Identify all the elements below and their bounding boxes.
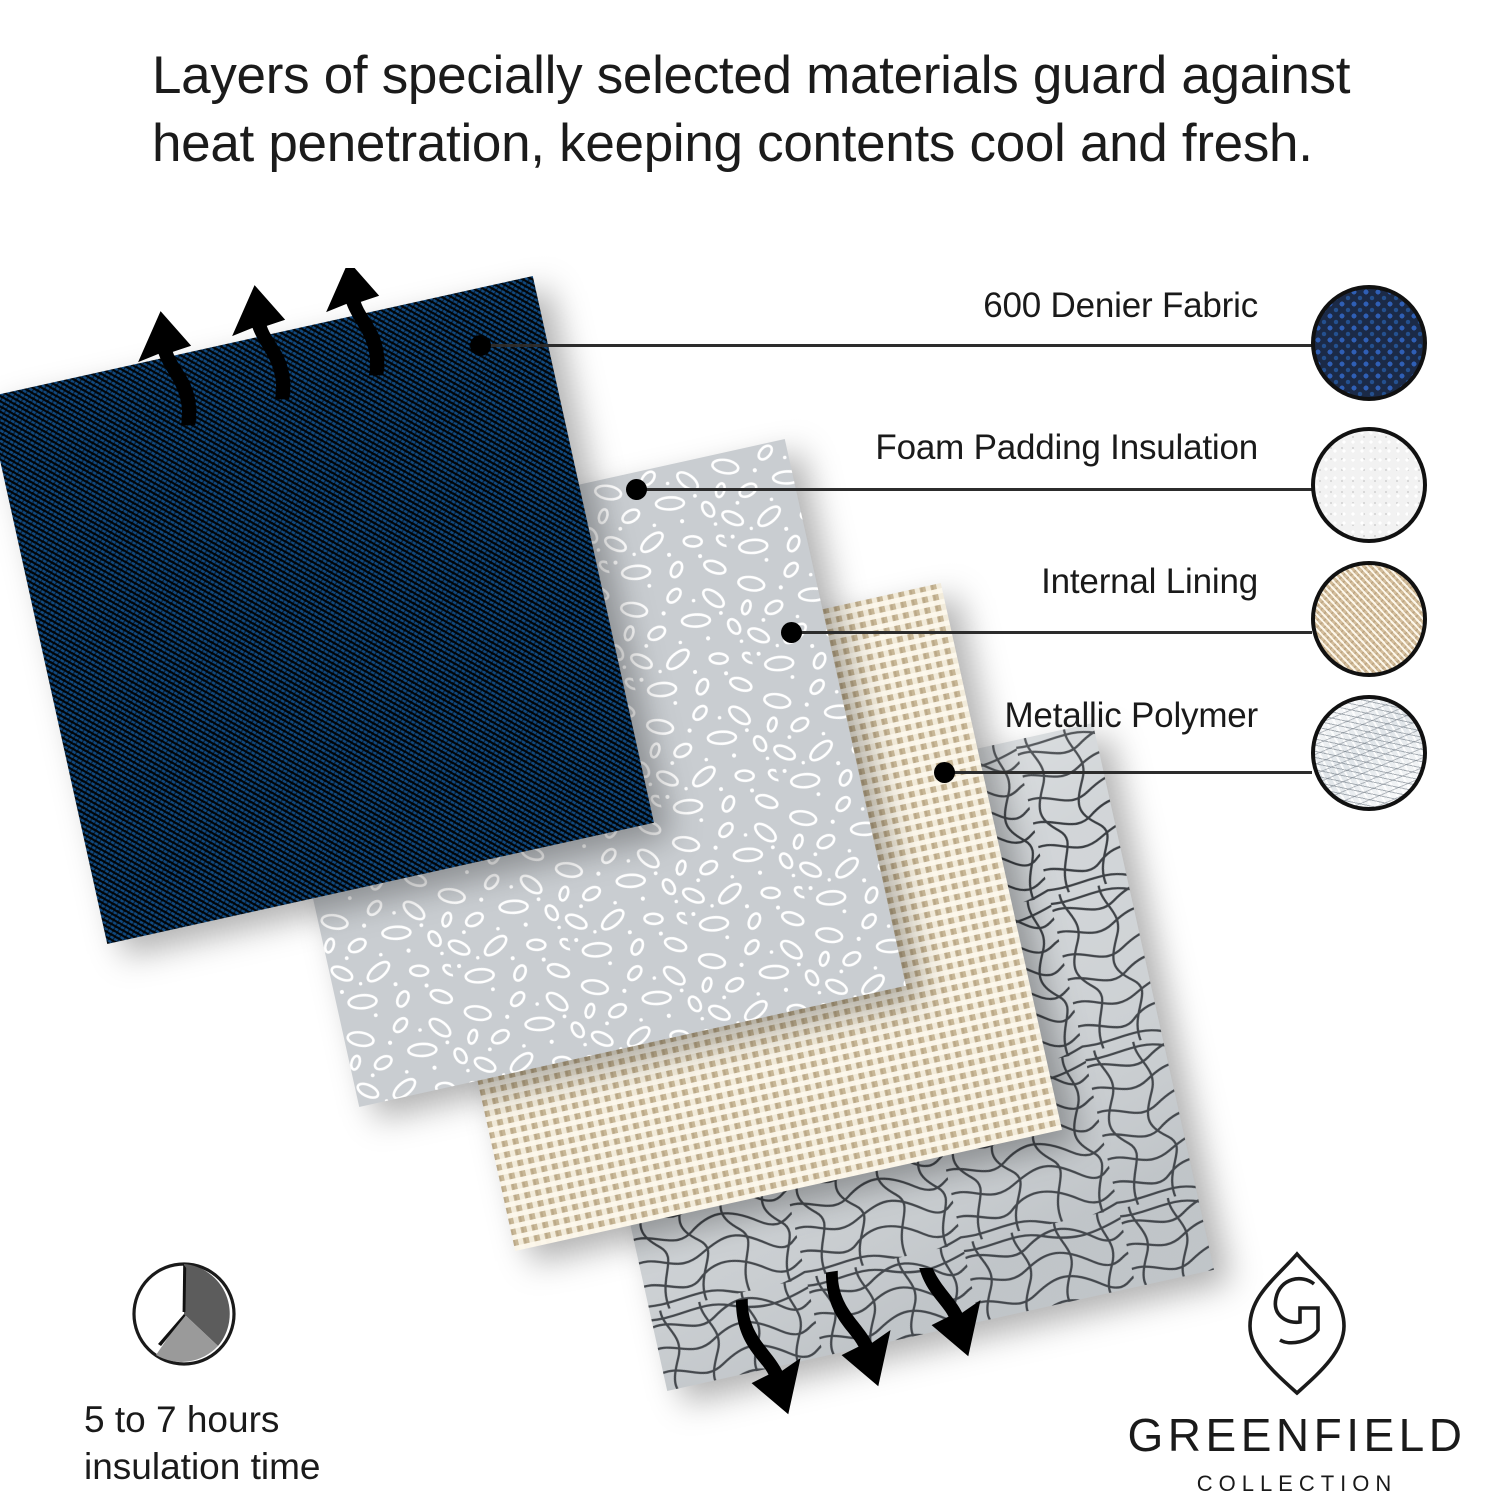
swatch-internal-lining [1311,561,1427,677]
leader-line-600-denier-fabric [480,344,1312,347]
leader-line-internal-lining [791,631,1312,634]
brand-subtitle: COLLECTION [1122,1471,1472,1497]
leader-dot-internal-lining [781,622,802,643]
swatch-foam-padding-insulation [1311,427,1427,543]
brand-name: GREENFIELD [1122,1408,1472,1462]
leader-dot-600-denier-fabric [470,335,491,356]
swatch-600-denier-fabric [1311,285,1427,401]
swatch-metallic-polymer [1311,695,1427,811]
clock-icon [128,1258,240,1375]
heat-arrows-up [138,268,438,438]
layer-label-600-denier-fabric: 600 Denier Fabric [983,286,1258,326]
greenfield-leaf-monogram-icon [1232,1248,1362,1398]
brand-logo: GREENFIELD COLLECTION [1122,1248,1472,1497]
leader-line-metallic-polymer [944,771,1312,774]
page-title: Layers of specially selected materials g… [152,42,1382,178]
infographic-canvas: Layers of specially selected materials g… [0,0,1500,1500]
leader-dot-metallic-polymer [934,762,955,783]
layer-label-foam-padding-insulation: Foam Padding Insulation [875,428,1258,468]
layer-label-metallic-polymer: Metallic Polymer [1004,696,1258,736]
heat-arrows-down [716,1268,1016,1453]
leader-dot-foam-padding [626,479,647,500]
insulation-time-text: 5 to 7 hours insulation time [84,1396,321,1491]
leader-line-foam-padding [636,488,1312,491]
layer-label-internal-lining: Internal Lining [1041,562,1258,602]
